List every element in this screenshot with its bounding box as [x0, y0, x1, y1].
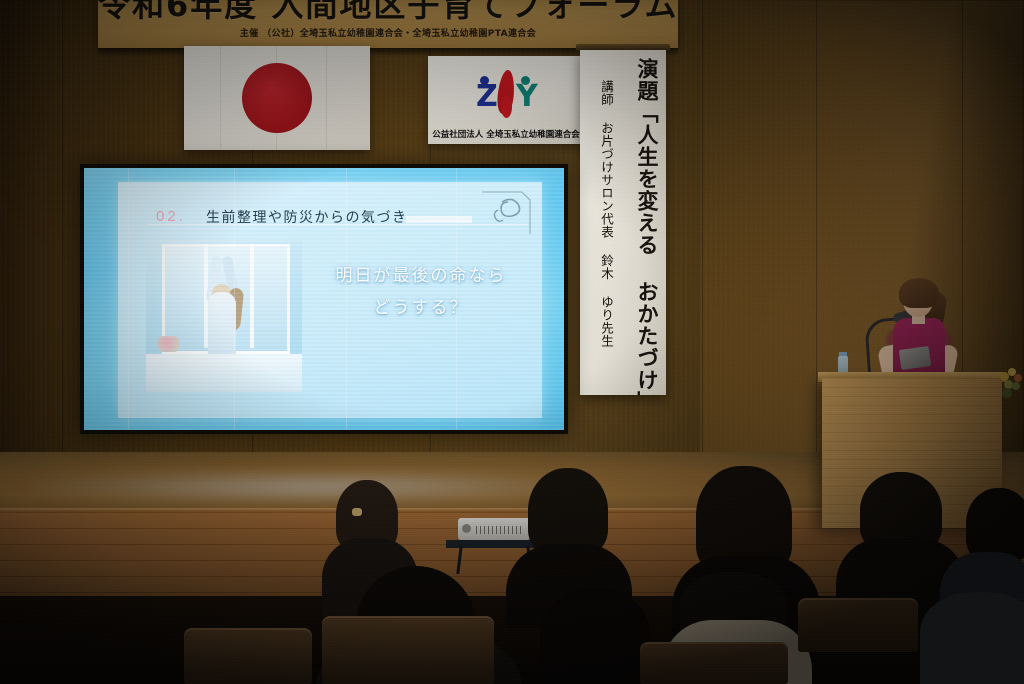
- japanese-flag: [184, 46, 370, 150]
- flower-arrangement: [998, 366, 1024, 400]
- projection-screen: 02. 生前整理や防災からの気づき 明日が最後の命: [84, 168, 564, 430]
- seminar-title-text: 演題「人生を変える おかたづけ」整理収納セミナー: [632, 58, 662, 388]
- audience-head: [966, 488, 1024, 562]
- wall-seam: [62, 0, 63, 470]
- logo-flame-lower-icon: [501, 96, 512, 118]
- projection-screen-frame: 02. 生前整理や防災からの気づき 明日が最後の命: [80, 164, 568, 434]
- forum-title-text: 令和6年度 入間地区子育てフォーラム: [98, 0, 678, 26]
- speaker-hair: [899, 278, 939, 308]
- organization-banner: Z Y 公益社団法人 全埼玉私立幼稚園連合会: [428, 56, 584, 144]
- organization-name-text: 公益社団法人 全埼玉私立幼稚園連合会: [428, 128, 584, 140]
- organization-logo: Z Y: [428, 66, 584, 121]
- speaker-tablet: [899, 346, 931, 370]
- stage-light-reflection: [30, 470, 590, 504]
- auditorium-chair: [640, 642, 788, 684]
- screen-scanlines: [84, 168, 564, 430]
- hinomaru-disc: [242, 63, 312, 133]
- hair-clip: [352, 508, 362, 516]
- lecture-hall-photo: 令和6年度 入間地区子育てフォーラム 主催 （公社）全埼玉私立幼稚園連合会・全埼…: [0, 0, 1024, 684]
- auditorium-chair: [184, 628, 312, 684]
- logo-letter-z: Z: [476, 82, 498, 112]
- projector-vents: [476, 526, 522, 534]
- auditorium-chair: [798, 598, 918, 652]
- audience-head: [528, 468, 608, 556]
- seminar-lecturer-text: 講師 お片づけサロン代表 鈴木 ゆり先生: [597, 80, 616, 385]
- projector-lens-icon: [462, 524, 471, 533]
- logo-letter-y: Y: [516, 82, 538, 112]
- auditorium-chair: [322, 616, 494, 684]
- wall-seam: [816, 0, 817, 470]
- audience-head: [540, 588, 650, 684]
- forum-title-banner: 令和6年度 入間地区子育てフォーラム 主催 （公社）全埼玉私立幼稚園連合会・全埼…: [98, 0, 678, 48]
- wall-seam: [702, 0, 703, 470]
- audience-shoulders: [920, 592, 1024, 684]
- forum-organizer-text: 主催 （公社）全埼玉私立幼稚園連合会・全埼玉私立幼稚園PTA連合会: [98, 26, 678, 39]
- seminar-title-banner: 演題「人生を変える おかたづけ」整理収納セミナー 講師 お片づけサロン代表 鈴木…: [580, 50, 666, 395]
